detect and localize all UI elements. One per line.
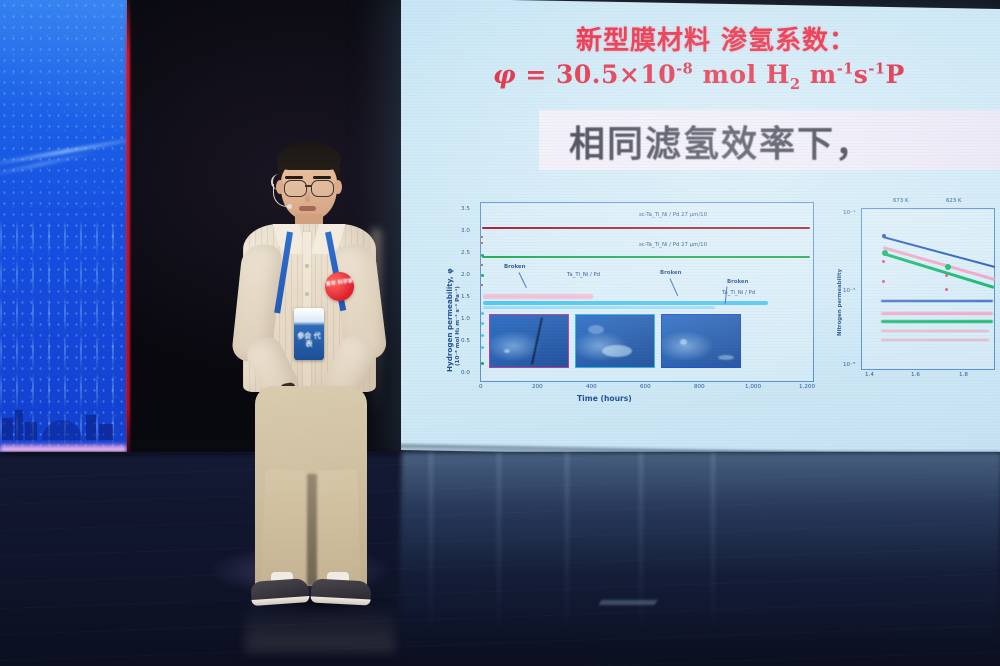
chart1-annotation-broken-3: Broken (727, 279, 748, 285)
chart1-marker (481, 334, 484, 337)
formula-units-c: s (854, 60, 869, 89)
sem-micrograph-1 (489, 314, 569, 368)
chart1-y-tick: 3.5 (461, 206, 470, 212)
chart1-series-lightcyan (483, 306, 715, 309)
formula-equals: = (525, 60, 546, 89)
chart2-flat-blue (881, 300, 993, 302)
chart1-x-tick: 0 (479, 384, 483, 390)
chart1-y-tick: 1.0 (461, 316, 470, 322)
chart2-marker (945, 264, 951, 270)
formula-units-b: m (801, 60, 837, 89)
stage-floor (0, 452, 1000, 666)
speaker-leg-left (260, 469, 309, 589)
sem-micrograph-3 (661, 314, 741, 368)
chart1-x-tick: 400 (586, 384, 597, 390)
chart2-x-tick: 1.8 (959, 372, 968, 378)
headset-mic-capsule (287, 204, 292, 209)
chart2-marker (945, 288, 948, 291)
chart2-flat-pink2 (881, 330, 989, 332)
chart1-series-label-green: sc-Ta_Ti_Ni / Pd 27 µm/10 (639, 242, 707, 248)
skyline-building (86, 415, 96, 440)
chart2-marker (882, 250, 888, 256)
speaker-hair-fringe (277, 144, 341, 170)
glasses-lens-right (311, 180, 334, 197)
chart2-y-tick: 10⁻⁵ (843, 362, 855, 368)
chart1-y-tick: 1.5 (461, 294, 470, 300)
chart1-x-tick: 800 (694, 384, 705, 390)
formula-units-d: P (885, 60, 904, 89)
led-sheen (0, 0, 127, 218)
chart-hydrogen-permeability: Hydrogen permeability, φ (10⁻⁸ mol H₂ m⁻… (427, 194, 819, 409)
slide-headline: 新型膜材料 渗氢系数： (576, 20, 856, 57)
led-skyline-graphic (0, 400, 127, 440)
chart2-marker (882, 234, 886, 238)
floor-marker-tape (599, 600, 657, 605)
chart1-y-tick: 2.5 (461, 250, 470, 256)
sem-speckle (680, 339, 687, 345)
chart1-y-tick: 0.5 (461, 338, 470, 344)
conference-badge-text: 参会 代表 (296, 332, 322, 348)
formula-units-sub: 2 (790, 76, 801, 93)
skyline-building (25, 422, 37, 440)
chart2-y-axis-label: Nitrogen permeability (837, 269, 843, 336)
slide-formula: φ = 30.5×10-8 mol H2 m-1s-1P (493, 60, 905, 93)
chart2-x-tick: 1.6 (911, 372, 920, 378)
chart1-x-axis-label: Time (hours) (577, 394, 632, 403)
led-video-wall (0, 0, 127, 470)
speaker-shoe-right (310, 578, 371, 605)
speaker-leg-right (313, 469, 361, 588)
shirt-button (305, 292, 309, 296)
chart1-x-tick: 600 (640, 384, 651, 390)
formula-units-b-sup: -1 (837, 61, 854, 78)
chart2-temp-label-2: 623 K (946, 198, 962, 204)
chart1-series-green (482, 256, 810, 258)
chart2-temp-label-1: 673 K (893, 198, 909, 204)
chart2-flat-green (881, 320, 993, 323)
chart1-marker (481, 346, 484, 349)
speaker-shoe-left (250, 578, 310, 606)
chart1-x-tick: 1,200 (799, 384, 815, 390)
sem-speckle (602, 345, 632, 357)
floor-plank-lines (0, 452, 1000, 666)
chart1-marker (481, 274, 484, 277)
chart2-flat-pink3 (881, 339, 989, 341)
chart1-marker (481, 254, 484, 257)
speaker-rim-light (370, 228, 382, 418)
chart1-series-label-red: sc-Ta_Ti_Ni / Pd 27 µm/10 (639, 212, 707, 218)
chart1-series-label-cyan: Ta_Ti_Ni / Pd (567, 272, 600, 278)
shirt-button (305, 264, 309, 268)
red-accent-light-strip (126, 0, 130, 462)
chart2-marker (882, 260, 885, 263)
formula-units-a: mol H (702, 60, 789, 89)
speaker-mouth (299, 206, 316, 211)
slide-content: 新型膜材料 渗氢系数： φ = 30.5×10-8 mol H2 m-1s-1P… (401, 0, 1000, 450)
speaker-floor-reflection (245, 602, 395, 652)
speaker-nose (305, 190, 310, 202)
skyline-building (15, 410, 23, 440)
skyline-building (99, 424, 113, 440)
chart1-y-tick: 3.0 (461, 228, 470, 234)
chart1-marker (481, 322, 484, 325)
speaker-eyebrow-right (313, 176, 331, 179)
chart1-annotation-broken-1: Broken (504, 264, 525, 270)
chart1-x-tick: 200 (532, 384, 543, 390)
sem-scalebar (718, 355, 734, 360)
chart1-marker (481, 312, 484, 315)
formula-symbol: φ (493, 60, 516, 89)
sem-crack (531, 317, 543, 364)
slide-headline-secondary: 相同滤氢效率下， (569, 115, 873, 167)
speaker-ear-right (334, 180, 342, 194)
sem-speckle (588, 325, 604, 334)
formula-units-c-sup: -1 (868, 61, 885, 78)
chart-nitrogen-permeability: Nitrogen permeability 10⁻¹ 10⁻³ 10⁻⁵ 673… (831, 196, 996, 406)
chart1-series-red (482, 227, 810, 229)
chart1-marker (481, 362, 484, 365)
trouser-inseam-shadow (307, 474, 317, 586)
skyline-dome (42, 420, 82, 440)
chart2-y-tick: 10⁻³ (843, 288, 855, 294)
chart1-y-tick: 2.0 (461, 272, 470, 278)
formula-exponent: -8 (676, 61, 693, 78)
slide-figure: Hydrogen permeability, φ (10⁻⁸ mol H₂ m⁻… (421, 194, 996, 416)
formula-coefficient: 30.5×10 (556, 60, 676, 89)
sem-micrograph-2 (575, 314, 655, 368)
chart2-flat-pink (881, 312, 993, 315)
projection-screen: 新型膜材料 渗氢系数： φ = 30.5×10-8 mol H2 m-1s-1P… (401, 0, 1000, 461)
chart2-y-tick: 10⁻¹ (843, 210, 855, 216)
chart2-marker (882, 280, 885, 283)
chart1-annotation-broken-2: Broken (660, 270, 681, 276)
chart2-marker (945, 274, 948, 277)
sem-speckle (504, 349, 510, 353)
speaker-figure: 参会 代表 青年 科学家 (215, 140, 415, 630)
glasses-bridge (305, 185, 312, 187)
chart2-x-tick: 1.4 (865, 372, 874, 378)
chart1-series-pink (483, 294, 593, 299)
chart1-y-tick: 0.0 (461, 370, 470, 376)
stage-scene: 新型膜材料 渗氢系数： φ = 30.5×10-8 mol H2 m-1s-1P… (0, 0, 1000, 666)
skyline-building (2, 418, 13, 440)
chart1-y-axis-label: Hydrogen permeability, φ (445, 268, 454, 372)
chart2-plot-area (861, 208, 995, 370)
chart1-x-tick: 1,000 (745, 384, 761, 390)
speaker-eyebrow-left (285, 176, 303, 179)
